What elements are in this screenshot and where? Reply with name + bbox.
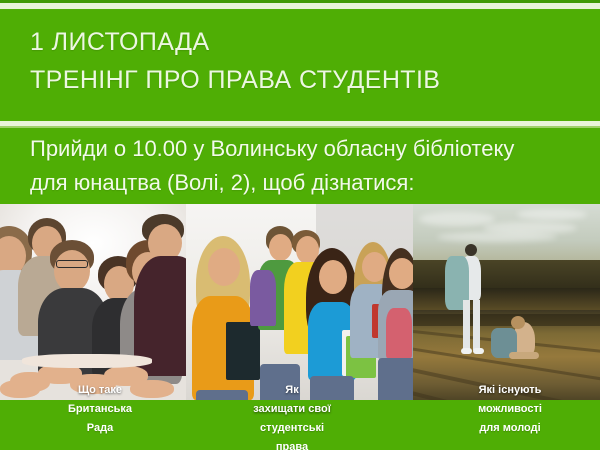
caption-british-council: Що таке Британська Рада: [30, 381, 170, 438]
caption-student-rights: Як захищати свої студентські права: [222, 381, 362, 450]
poster-root: 1 ЛИСТОПАДА ТРЕНІНГ ПРО ПРАВА СТУДЕНТІВ …: [0, 0, 600, 450]
caption-2-line-4: права: [222, 438, 362, 450]
caption-3-line-2: можливості: [440, 400, 580, 419]
caption-2-line-2: захищати свої: [222, 400, 362, 419]
event-date-title: 1 ЛИСТОПАДА: [30, 28, 210, 57]
caption-2-line-1: Як: [222, 381, 362, 400]
photo-strip: [0, 204, 600, 400]
caption-1-line-3: Рада: [30, 419, 170, 438]
caption-2-line-3: студентські: [222, 419, 362, 438]
header-block: 1 ЛИСТОПАДА ТРЕНІНГ ПРО ПРАВА СТУДЕНТІВ: [0, 9, 600, 121]
body-text-line-2: для юнацтва (Волі, 2), щоб дізнатися:: [30, 170, 414, 196]
caption-1-line-2: Британська: [30, 400, 170, 419]
photo-hiker-field: [413, 204, 600, 400]
photo-students: [186, 204, 413, 400]
event-name-title: ТРЕНІНГ ПРО ПРАВА СТУДЕНТІВ: [30, 66, 440, 95]
caption-3-line-3: для молоді: [440, 419, 580, 438]
caption-1-line-1: Що таке: [30, 381, 170, 400]
photo-group-hands: [0, 204, 186, 400]
body-text-block: Прийди о 10.00 у Волинську обласну біблі…: [0, 128, 600, 204]
body-text-line-1: Прийди о 10.00 у Волинську обласну біблі…: [30, 136, 514, 162]
caption-youth-opportunities: Які існують можливості для молоді: [440, 381, 580, 438]
caption-3-line-1: Які існують: [440, 381, 580, 400]
